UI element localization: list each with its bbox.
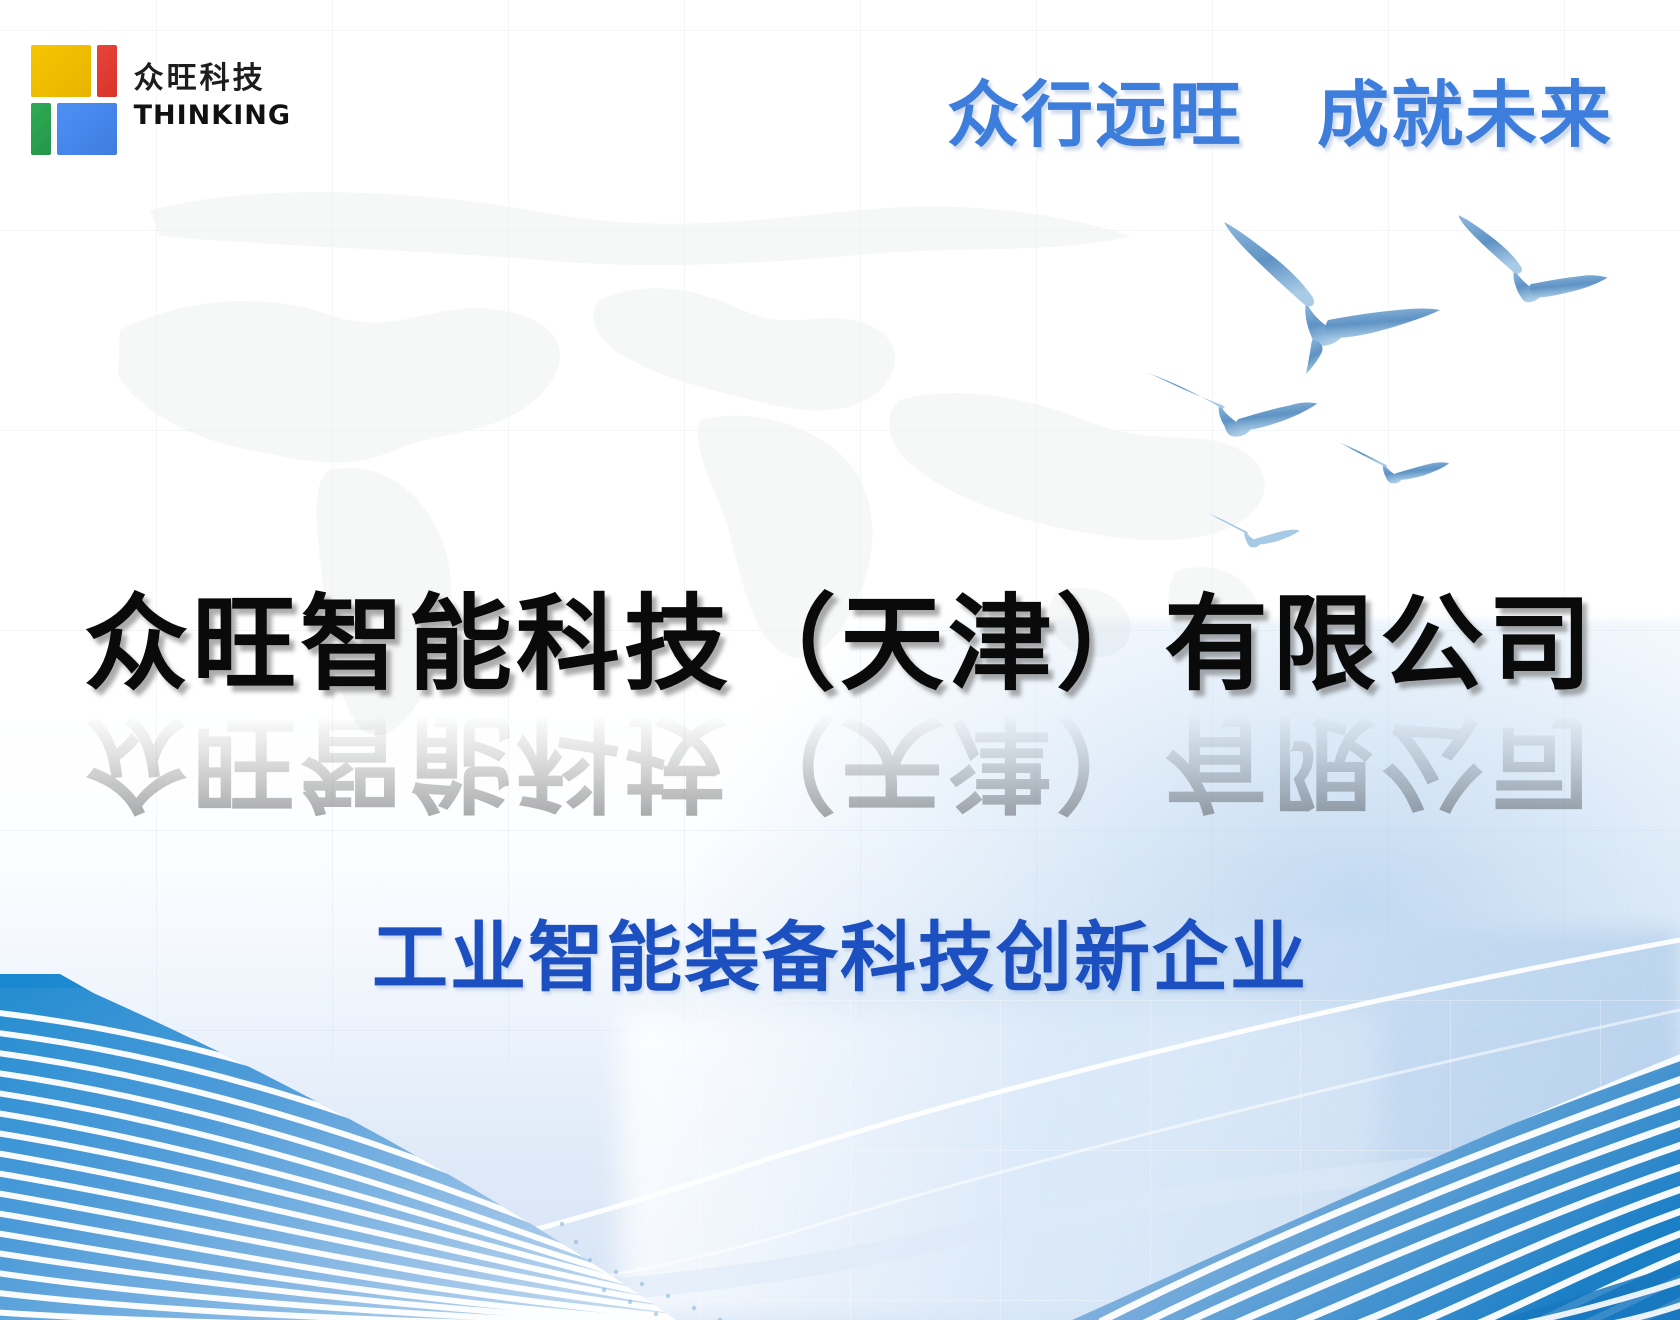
- page-title: 众旺智能科技（天津）有限公司: [0, 586, 1680, 702]
- blue-striped-wave-left-icon: [0, 960, 990, 1320]
- flying-birds-icon: [1130, 200, 1670, 620]
- page-subtitle: 工业智能装备科技创新企业: [0, 896, 1680, 1006]
- logo-color-blocks: [31, 37, 106, 155]
- logo-wordmark: 众旺科技 THINKING: [134, 63, 291, 130]
- logo-chinese-name: 众旺科技: [134, 63, 291, 95]
- logo-english-name: THINKING: [134, 102, 291, 129]
- title-slide: 众旺科技 THINKING 众行远旺 成就未来 众旺智能科技（天津）有限公司 众…: [0, 0, 1680, 1320]
- red-block-icon: [97, 45, 117, 97]
- company-logo[interactable]: 众旺科技 THINKING: [31, 30, 291, 162]
- green-block-icon: [31, 103, 51, 155]
- blue-block-icon: [57, 103, 117, 155]
- header-slogan: 众行远旺 成就未来: [930, 56, 1630, 161]
- page-title-reflection: 众旺智能科技（天津）有限公司: [0, 704, 1680, 820]
- title-block: 众旺智能科技（天津）有限公司 众旺智能科技（天津）有限公司: [0, 586, 1680, 821]
- blue-striped-wave-right-icon: [990, 1010, 1680, 1320]
- yellow-block-icon: [31, 45, 91, 97]
